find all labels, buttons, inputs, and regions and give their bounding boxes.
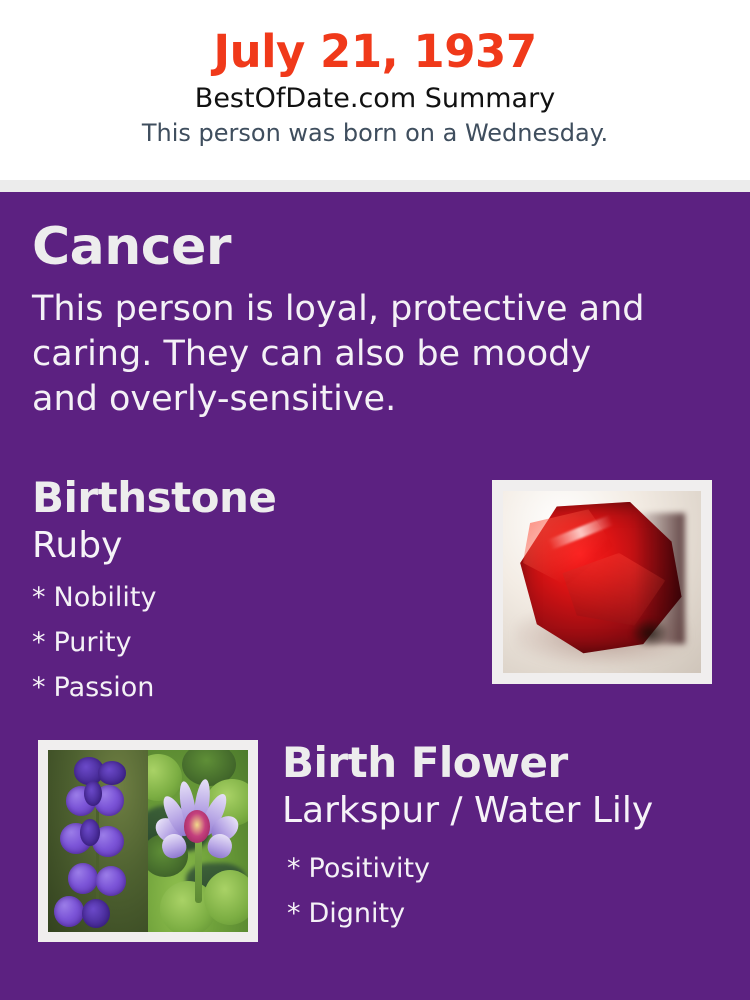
zodiac-description: This person is loyal, protective and car… [32, 287, 652, 422]
lily-pad [204, 870, 248, 925]
birthstone-name: Ruby [32, 523, 462, 569]
larkspur-petal [68, 863, 98, 894]
birthstone-photo [503, 491, 701, 673]
larkspur-petal [98, 761, 126, 785]
birth-flower-photo-frame [38, 740, 258, 942]
birthstone-trait-label: Purity [54, 627, 132, 658]
zodiac-sign-title: Cancer [32, 218, 231, 276]
water-lily-center [184, 810, 210, 843]
birthstone-title: Birthstone [32, 473, 462, 523]
bullet-star-icon: * [32, 620, 46, 665]
weekday-line: This person was born on a Wednesday. [0, 116, 750, 148]
water-lily-photo [148, 750, 248, 932]
list-item: *Purity [32, 620, 462, 665]
bullet-star-icon: * [32, 665, 46, 710]
bullet-star-icon: * [32, 575, 46, 620]
site-name: BestOfDate.com Summary [0, 78, 750, 116]
birthstone-trait-label: Nobility [54, 582, 157, 613]
larkspur-photo [48, 750, 148, 932]
water-lily-stem [195, 837, 202, 903]
birthstone-photo-frame [492, 480, 712, 684]
birth-flower-section: Birth Flower Larkspur / Water Lily *Posi… [282, 738, 722, 936]
birth-flower-photo [48, 750, 248, 932]
header: July 21, 1937 BestOfDate.com Summary Thi… [0, 0, 750, 180]
larkspur-petal [54, 896, 84, 927]
page-title-date: July 21, 1937 [0, 0, 750, 78]
birth-flower-trait-label: Dignity [309, 898, 406, 929]
birth-flower-title: Birth Flower [282, 738, 722, 788]
list-item: *Dignity [287, 891, 722, 936]
list-item: *Passion [32, 665, 462, 710]
list-item: *Positivity [287, 846, 722, 891]
birth-flower-trait-list: *Positivity *Dignity [282, 846, 722, 936]
list-item: *Nobility [32, 575, 462, 620]
birthstone-trait-list: *Nobility *Purity *Passion [32, 575, 462, 710]
ruby-inclusion [630, 618, 670, 647]
header-divider [0, 180, 750, 192]
birth-flower-trait-label: Positivity [309, 853, 431, 884]
bullet-star-icon: * [287, 891, 301, 936]
larkspur-petal [96, 866, 126, 895]
birthstone-section: Birthstone Ruby *Nobility *Purity *Passi… [32, 473, 462, 710]
bullet-star-icon: * [287, 846, 301, 891]
summary-card: July 21, 1937 BestOfDate.com Summary Thi… [0, 0, 750, 1000]
birthstone-trait-label: Passion [54, 672, 155, 703]
birth-flower-name: Larkspur / Water Lily [282, 788, 722, 834]
